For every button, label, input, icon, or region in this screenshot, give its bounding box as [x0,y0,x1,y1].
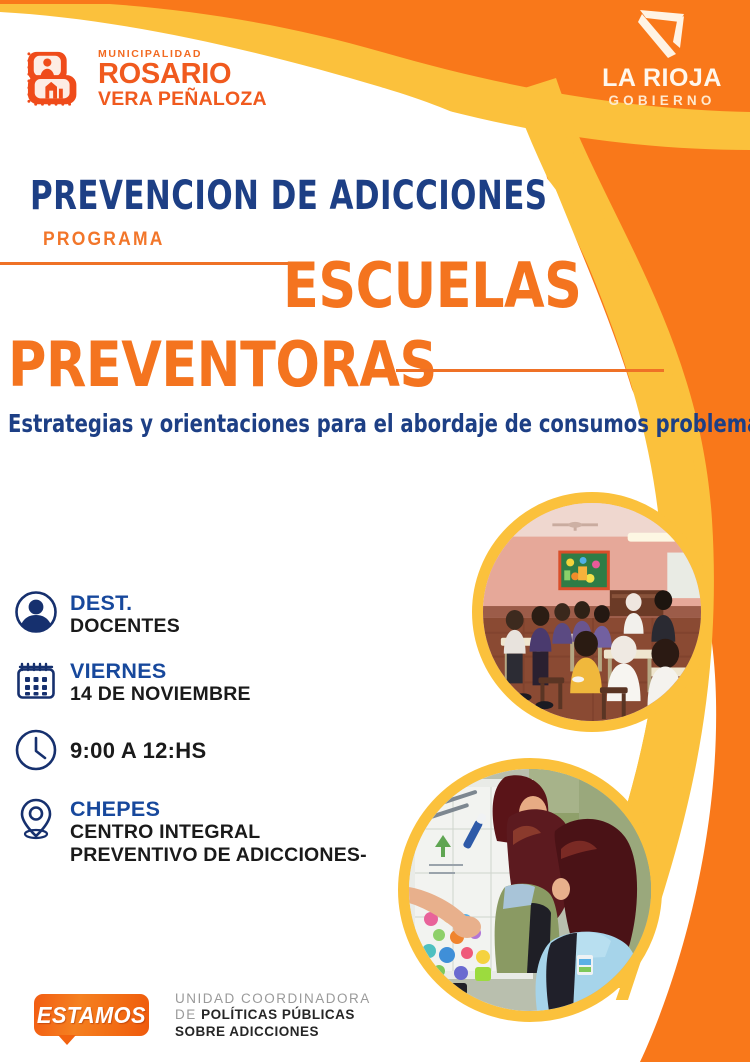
coordinating-unit-text: UNIDAD COORDINADORA DE POLÍTICAS PÚBLICA… [175,991,371,1040]
municipality-wordmark: MUNICIPALIDAD ROSARIO VERA PEÑALOZA [98,49,267,109]
date-day-label: VIERNES [70,659,251,683]
program-label: PROGRAMA [43,229,165,251]
classroom-photo [472,492,712,732]
detail-text-location: CHEPES CENTRO INTEGRAL PREVENTIVO DE ADI… [70,794,367,867]
date-value: 14 DE NOVIEMBRE [70,683,251,706]
municipality-logo: MUNICIPALIDAD ROSARIO VERA PEÑALOZA [26,48,267,110]
audience-label: DEST. [70,591,180,615]
location-city: CHEPES [70,797,367,821]
unit-line-2-bold: POLÍTICAS PÚBLICAS [201,1007,355,1022]
clock-icon [14,726,70,772]
workshop-photo [398,758,662,1022]
program-rule [0,262,290,265]
estamos-label: ESTAMOS [37,1002,146,1029]
detail-text-date: VIERNES 14 DE NOVIEMBRE [70,656,251,706]
detail-row-audience: DEST. DOCENTES [14,588,404,638]
poster-canvas: MUNICIPALIDAD ROSARIO VERA PEÑALOZA LA R… [0,0,750,1062]
location-venue-line-2: PREVENTIVO DE ADICCIONES- [70,844,367,867]
detail-text-time: 9:00 A 12:HS [70,726,206,764]
municipality-name: ROSARIO [98,61,267,88]
detail-row-location: CHEPES CENTRO INTEGRAL PREVENTIVO DE ADI… [14,794,404,867]
estamos-badge: ESTAMOS [34,994,149,1036]
unit-line-2-thin: DE [175,1007,197,1022]
footer: ESTAMOS UNIDAD COORDINADORA DE POLÍTICAS… [34,991,371,1040]
subtitle: Estrategias y orientaciones para el abor… [8,409,750,438]
unit-line-1: UNIDAD COORDINADORA [175,991,371,1007]
government-logo: LA RIOJA GOBIERNO [592,6,732,108]
calendar-icon [14,656,70,702]
event-details-list: DEST. DOCENTES [14,588,404,885]
unit-line-2: DE POLÍTICAS PÚBLICAS [175,1007,371,1023]
la-rioja-triangle-icon [632,6,692,62]
person-icon [14,588,70,634]
audience-value: DOCENTES [70,615,180,638]
location-pin-icon [14,794,70,840]
main-title-rule [396,369,664,372]
main-title-line-2: PREVENTORAS [8,334,437,396]
detail-text-audience: DEST. DOCENTES [70,588,180,638]
municipality-subname: VERA PEÑALOZA [98,89,267,109]
time-value: 9:00 A 12:HS [70,729,206,764]
workshop-photo-graphic [409,769,651,1011]
detail-row-date: VIERNES 14 DE NOVIEMBRE [14,656,404,706]
government-name: LA RIOJA [592,66,732,91]
location-venue-line-1: CENTRO INTEGRAL [70,821,367,844]
detail-row-time: 9:00 A 12:HS [14,726,404,772]
municipality-emblem-icon [26,48,88,110]
title-eyebrow: PREVENCION DE ADICCIONES [30,175,649,217]
government-tier: GOBIERNO [592,93,732,108]
main-title-line-1: ESCUELAS [283,255,581,317]
classroom-photo-graphic [483,503,701,721]
top-hairline [0,0,750,4]
unit-line-3: SOBRE ADICCIONES [175,1024,371,1040]
